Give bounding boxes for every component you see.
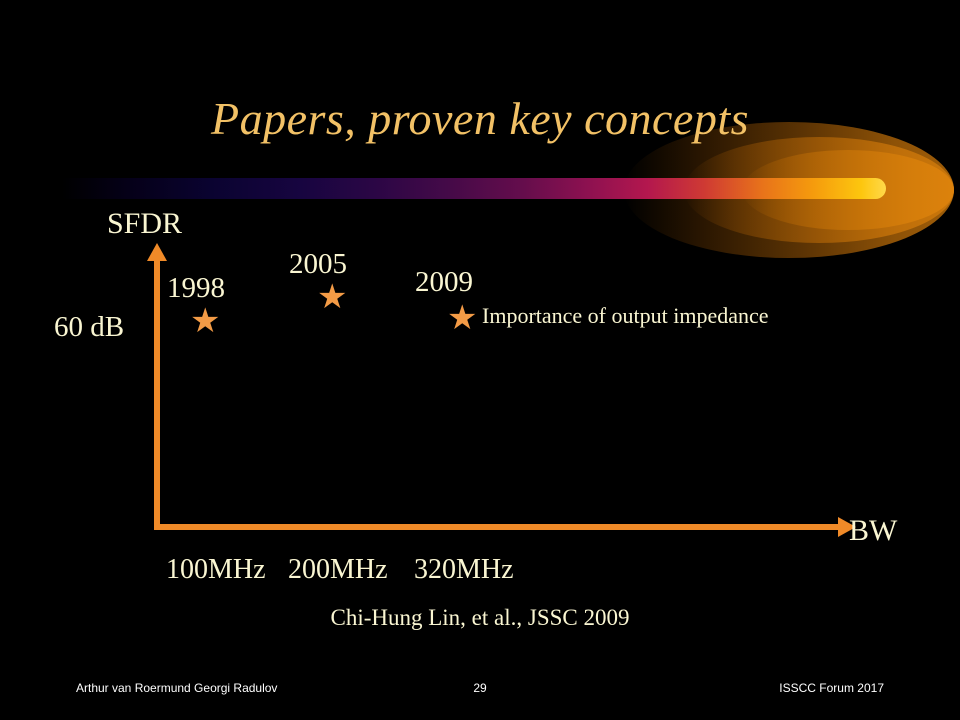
y-axis-arrowhead (147, 243, 167, 261)
x-tick-label-0: 100MHz (166, 554, 266, 586)
slide: Papers, proven key concepts SFDR BW 60 d… (0, 0, 960, 720)
y-axis-title: SFDR (107, 207, 182, 241)
slide-title: Papers, proven key concepts (0, 92, 960, 145)
footer-event: ISSCC Forum 2017 (779, 681, 884, 695)
source-citation: Chi-Hung Lin, et al., JSSC 2009 (0, 605, 960, 631)
y-axis-line (154, 258, 160, 530)
x-tick-label-2: 320MHz (414, 554, 514, 586)
x-axis-title: BW (849, 514, 897, 548)
y-axis-reference-label: 60 dB (54, 311, 124, 344)
point-label-1998: 1998 (167, 272, 225, 305)
point-label-2005: 2005 (289, 248, 347, 281)
star-icon-2009: ★ (447, 302, 477, 336)
annotation-output-impedance: Importance of output impedance (482, 303, 769, 329)
x-tick-label-1: 200MHz (288, 554, 388, 586)
point-label-2009: 2009 (415, 266, 473, 299)
x-axis-line (154, 524, 840, 530)
star-icon-2005: ★ (317, 281, 347, 315)
star-icon-1998: ★ (190, 305, 220, 339)
slide-footer: Arthur van Roermund Georgi Radulov 29 IS… (0, 681, 960, 701)
